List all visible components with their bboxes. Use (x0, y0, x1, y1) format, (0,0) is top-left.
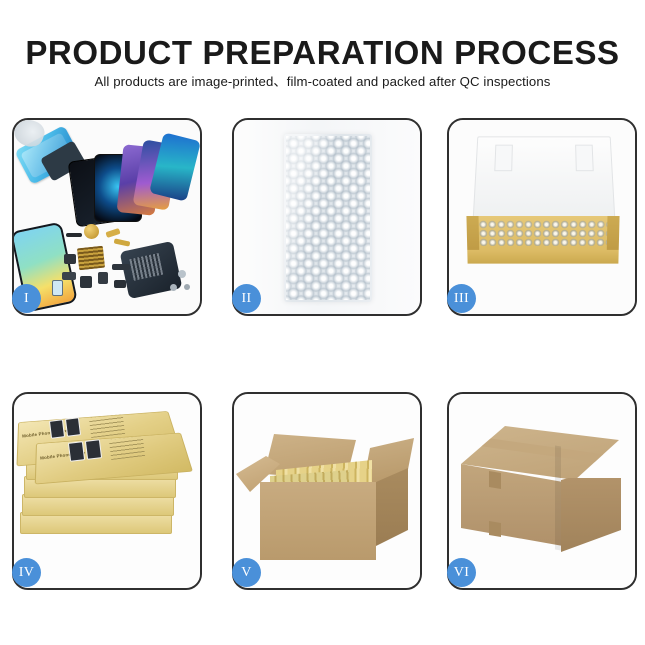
stacked-boxes-scene: Mobile Phone Spare Parts Mobile Phone Sp… (14, 394, 200, 588)
step-image-2 (234, 120, 420, 314)
part-battery-icon (52, 280, 63, 296)
screw-icon (178, 270, 186, 278)
bubble-wrap-pouch-icon (284, 134, 372, 302)
step-image-1 (14, 120, 200, 314)
product-preparation-infographic: PRODUCT PREPARATION PROCESS All products… (0, 0, 645, 645)
step-badge-2: II (232, 284, 261, 313)
kraft-tray-icon (466, 216, 619, 262)
vibration-motor-icon (84, 224, 99, 239)
step-card-1 (12, 118, 202, 316)
chip-array-icon (77, 246, 105, 271)
carton-edge-shadow (555, 445, 561, 550)
step-image-5 (234, 394, 420, 588)
screw-3-icon (184, 284, 190, 290)
part-module-icon (62, 272, 76, 280)
box-print-screen-1 (49, 419, 65, 439)
tray-front-panel (467, 250, 618, 264)
box-print-screen-3 (68, 441, 85, 462)
step-badge-5: V (232, 558, 261, 587)
page-subtitle: All products are image-printed、film-coat… (0, 71, 645, 90)
lid-tab-left (494, 145, 513, 171)
part-connector-icon (66, 233, 82, 237)
screw-2-icon (170, 284, 177, 291)
step-card-4: Mobile Phone Spare Parts Mobile Phone Sp… (12, 392, 202, 590)
part-flex-cable-2-icon (114, 238, 131, 246)
part-strip-icon (112, 264, 130, 270)
carton-handle-slot-2 (489, 521, 501, 537)
part-button-icon (114, 280, 126, 288)
open-carton-scene (234, 394, 420, 588)
part-speaker-icon (98, 272, 108, 284)
sealed-carton-scene (449, 394, 635, 588)
step-image-6 (449, 394, 635, 588)
box-print-text-block-2 (109, 436, 145, 460)
step-image-3 (449, 120, 635, 314)
phone-parts-collage (14, 120, 200, 314)
step-card-5 (232, 392, 422, 590)
step-card-6 (447, 392, 637, 590)
part-camera-icon (80, 276, 92, 288)
step-badge-1: I (12, 284, 41, 313)
step-image-4: Mobile Phone Spare Parts Mobile Phone Sp… (14, 394, 200, 588)
page-title: PRODUCT PREPARATION PROCESS (0, 34, 645, 72)
step-badge-3: III (447, 284, 476, 313)
part-ic-icon (64, 254, 76, 264)
part-flex-cable-icon (105, 228, 120, 238)
sealed-carton-side (561, 478, 621, 552)
plastic-sheen (284, 134, 372, 302)
step-badge-6: VI (447, 558, 476, 587)
step-badge-4: IV (12, 558, 41, 587)
step-card-3 (447, 118, 637, 316)
box-print-screen-4 (85, 439, 102, 460)
carton-handle-slot-1 (489, 471, 501, 489)
box-lid-icon (472, 136, 615, 222)
bubble-wrapped-contents (479, 220, 608, 246)
open-tray-box-scene (449, 120, 635, 314)
box-print-screen-2 (65, 417, 81, 437)
lid-tab-right (575, 145, 594, 171)
step-card-2 (232, 118, 422, 316)
bubble-wrap-scene (234, 120, 420, 314)
carton-front-panel (260, 482, 376, 560)
box-print-text-block-1 (89, 414, 125, 438)
steps-grid: I II (0, 118, 645, 588)
